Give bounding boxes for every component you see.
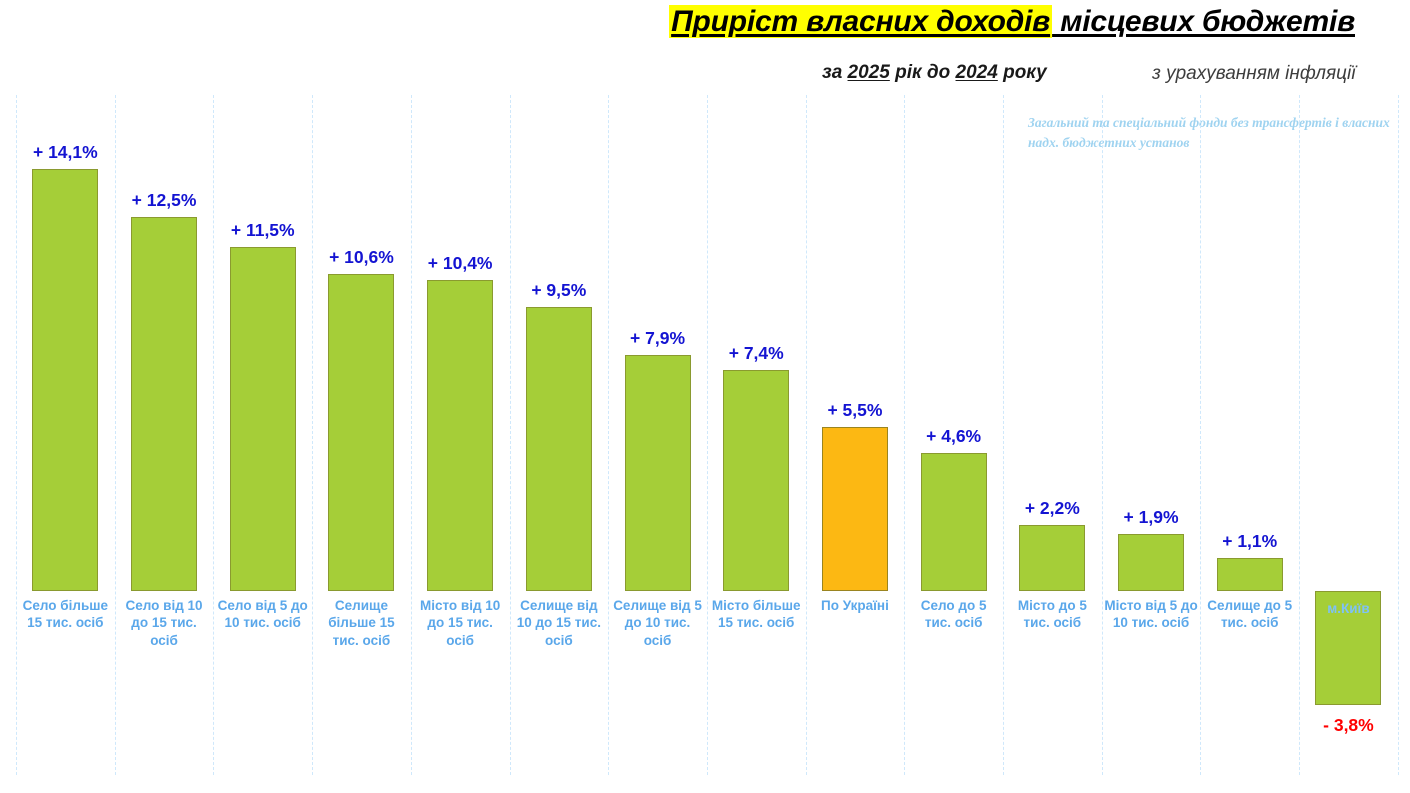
chart-bar[interactable] bbox=[32, 169, 98, 591]
chart-bar[interactable] bbox=[526, 307, 592, 591]
chart-header: Приріст власних доходів місцевих бюджеті… bbox=[0, 0, 1410, 95]
bar-slot: + 1,1% bbox=[1200, 95, 1299, 591]
bar-value-label: + 7,4% bbox=[729, 343, 784, 364]
bar-slot: + 2,2% bbox=[1003, 95, 1102, 591]
bar-value-label: + 10,6% bbox=[329, 247, 394, 268]
subtitle-suffix: року bbox=[998, 62, 1047, 83]
bar-slot: + 10,6% bbox=[312, 95, 411, 591]
category-axis-label: Місто від 5 до 10 тис. осіб bbox=[1102, 597, 1201, 632]
bar-value-label: + 5,5% bbox=[827, 400, 882, 421]
bar-value-label: + 11,5% bbox=[231, 220, 295, 241]
category-axis-label: Селище більше 15 тис. осіб bbox=[312, 597, 411, 649]
bar-slot: + 11,5% bbox=[213, 95, 312, 591]
bar-value-label: + 12,5% bbox=[132, 190, 197, 211]
chart-bar[interactable] bbox=[230, 247, 296, 591]
bar-value-label: + 10,4% bbox=[428, 253, 493, 274]
bar-chart-plot-area: + 14,1%Село більше 15 тис. осіб+ 12,5%Се… bbox=[0, 95, 1410, 793]
category-axis-label: Селище від 5 до 10 тис. осіб bbox=[608, 597, 707, 649]
chart-bar[interactable] bbox=[328, 274, 394, 591]
bar-value-label: + 1,1% bbox=[1222, 531, 1277, 552]
chart-bar[interactable] bbox=[822, 427, 888, 591]
chart-category: + 11,5%Село від 5 до 10 тис. осіб bbox=[213, 95, 312, 793]
chart-bar[interactable] bbox=[1019, 525, 1085, 591]
bar-slot: + 7,4% bbox=[707, 95, 806, 591]
bar-slot: + 5,5% bbox=[806, 95, 905, 591]
chart-subtitle: за 2025 рік до 2024 року bbox=[822, 62, 1047, 84]
bar-value-label: + 9,5% bbox=[531, 280, 586, 301]
bar-slot: + 10,4% bbox=[411, 95, 510, 591]
chart-category: + 7,9%Селище від 5 до 10 тис. осіб bbox=[608, 95, 707, 793]
category-axis-label: Село від 5 до 10 тис. осіб bbox=[213, 597, 312, 632]
chart-bar[interactable] bbox=[723, 370, 789, 591]
chart-bar[interactable] bbox=[131, 217, 197, 591]
chart-category: + 5,5%По Україні bbox=[806, 95, 905, 793]
chart-bar[interactable] bbox=[625, 355, 691, 591]
chart-bar[interactable] bbox=[1217, 558, 1283, 591]
chart-category: + 1,9%Місто від 5 до 10 тис. осіб bbox=[1102, 95, 1201, 793]
category-axis-label: По Україні bbox=[806, 597, 905, 614]
chart-category: - 3,8%м.Київ bbox=[1299, 95, 1398, 793]
subtitle-year-current: 2025 bbox=[848, 62, 890, 83]
bar-value-label: + 1,9% bbox=[1124, 507, 1179, 528]
category-axis-label: Селище до 5 тис. осіб bbox=[1200, 597, 1299, 632]
chart-category: + 12,5%Село від 10 до 15 тис. осіб bbox=[115, 95, 214, 793]
chart-bar[interactable] bbox=[921, 453, 987, 591]
inflation-note: з урахуванням інфляції bbox=[1152, 63, 1355, 85]
category-axis-label: Місто до 5 тис. осіб bbox=[1003, 597, 1102, 632]
category-axis-label: Селище від 10 до 15 тис. осіб bbox=[510, 597, 609, 649]
gridline bbox=[1398, 95, 1399, 775]
chart-category: + 1,1%Селище до 5 тис. осіб bbox=[1200, 95, 1299, 793]
page-title-rest: місцевих бюджетів bbox=[1052, 5, 1355, 38]
bar-slot: + 12,5% bbox=[115, 95, 214, 591]
category-axis-label: м.Київ bbox=[1299, 600, 1398, 617]
category-axis-label: Село до 5 тис. осіб bbox=[904, 597, 1003, 632]
page-title-highlight: Приріст власних доходів bbox=[669, 5, 1052, 38]
chart-category: + 10,4%Місто від 10 до 15 тис. осіб bbox=[411, 95, 510, 793]
bar-slot: + 4,6% bbox=[904, 95, 1003, 591]
chart-category: + 2,2%Місто до 5 тис. осіб bbox=[1003, 95, 1102, 793]
chart-bar[interactable] bbox=[427, 280, 493, 591]
chart-category: + 10,6%Селище більше 15 тис. осіб bbox=[312, 95, 411, 793]
chart-category: + 7,4%Місто більше 15 тис. осіб bbox=[707, 95, 806, 793]
category-axis-label: Місто більше 15 тис. осіб bbox=[707, 597, 806, 632]
chart-category: + 9,5%Селище від 10 до 15 тис. осіб bbox=[510, 95, 609, 793]
bar-value-label: + 7,9% bbox=[630, 328, 685, 349]
bar-slot: + 14,1% bbox=[16, 95, 115, 591]
bar-slot: + 9,5% bbox=[510, 95, 609, 591]
category-axis-label: Місто від 10 до 15 тис. осіб bbox=[411, 597, 510, 649]
category-axis-label: Село більше 15 тис. осіб bbox=[16, 597, 115, 632]
bar-value-label: + 4,6% bbox=[926, 426, 981, 447]
category-axis-label: Село від 10 до 15 тис. осіб bbox=[115, 597, 214, 649]
bar-slot: + 7,9% bbox=[608, 95, 707, 591]
subtitle-year-previous: 2024 bbox=[956, 62, 998, 83]
subtitle-prefix: за bbox=[822, 62, 848, 83]
bar-value-label: + 14,1% bbox=[33, 142, 98, 163]
bar-slot: + 1,9% bbox=[1102, 95, 1201, 591]
page-title: Приріст власних доходів місцевих бюджеті… bbox=[669, 5, 1355, 39]
chart-category: + 4,6%Село до 5 тис. осіб bbox=[904, 95, 1003, 793]
chart-bar[interactable] bbox=[1118, 534, 1184, 591]
bar-value-label: + 2,2% bbox=[1025, 498, 1080, 519]
bar-value-label: - 3,8% bbox=[1323, 715, 1374, 736]
subtitle-middle: рік до bbox=[890, 62, 956, 83]
chart-category: + 14,1%Село більше 15 тис. осіб bbox=[16, 95, 115, 793]
